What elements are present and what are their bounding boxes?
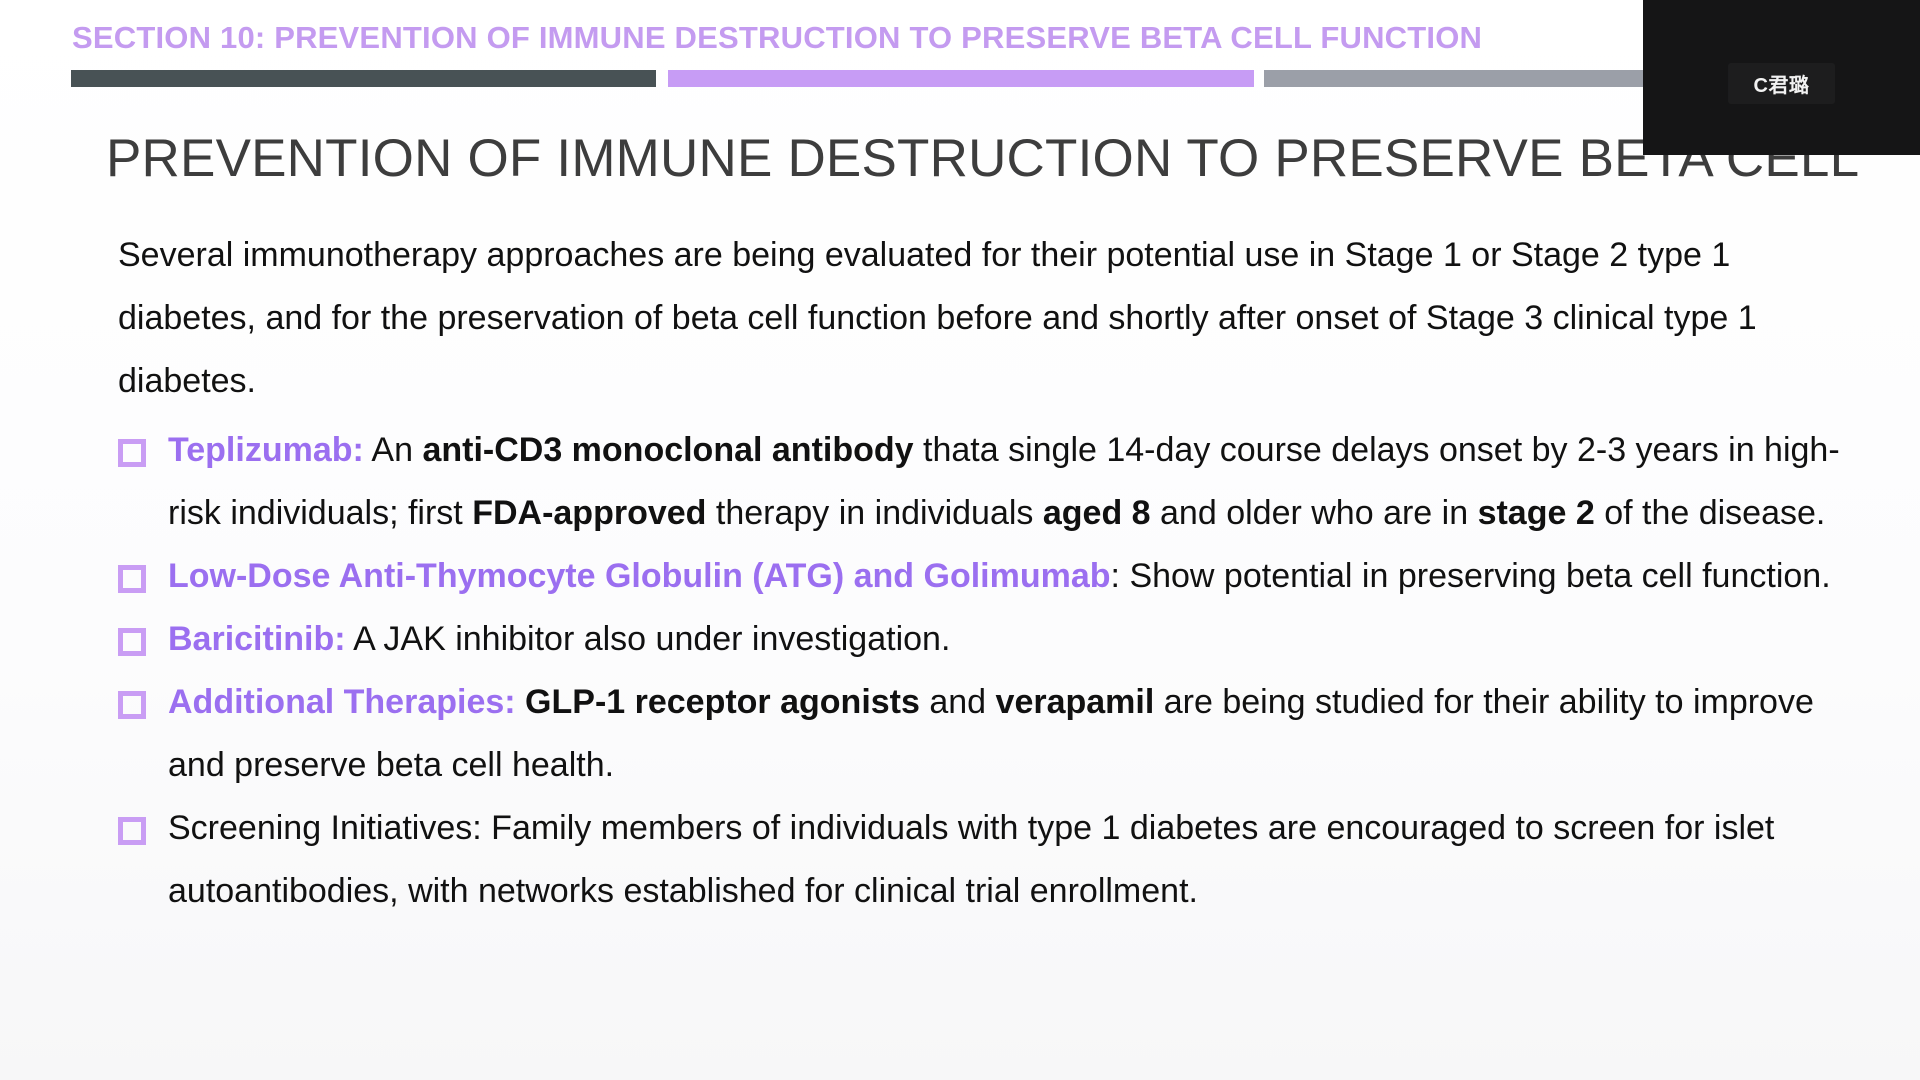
section-header: SECTION 10: PREVENTION OF IMMUNE DESTRUC… [0, 0, 1920, 108]
bullet-lead-label: Low-Dose Anti-Thymocyte Globulin (ATG) a… [168, 557, 1111, 595]
bullet-body-text: of the disease. [1595, 494, 1826, 532]
bullet-list: Teplizumab: An anti-CD3 monoclonal antib… [112, 419, 1842, 923]
bullet-body-text: and [920, 683, 996, 721]
bullet-item: Screening Initiatives: Family members of… [112, 797, 1868, 923]
bullet-emphasis-text: aged 8 [1043, 494, 1151, 532]
section-kicker-text: SECTION 10: PREVENTION OF IMMUNE DESTRUC… [72, 20, 1482, 56]
square-bullet-icon [118, 565, 146, 593]
page-title: PREVENTION OF IMMUNE DESTRUCTION TO PRES… [106, 128, 1846, 189]
bullet-body-text: therapy in individuals [706, 494, 1042, 532]
bullet-item: Teplizumab: An anti-CD3 monoclonal antib… [112, 419, 1868, 545]
bullet-body-text: : Show potential in preserving beta cell… [1111, 557, 1831, 595]
bullet-emphasis-text: GLP-1 receptor agonists [525, 683, 920, 721]
bullet-body-text: An [364, 431, 423, 469]
header-bar-dark [71, 70, 656, 87]
bullet-lead-label: Baricitinib: [168, 620, 346, 658]
header-bar-purple [668, 70, 1254, 87]
bullet-emphasis-text: anti-CD3 monoclonal antibody [422, 431, 913, 469]
bullet-item: Baricitinib: A JAK inhibitor also under … [112, 608, 1868, 671]
bullet-lead-label: Teplizumab: [168, 431, 364, 469]
square-bullet-icon [118, 439, 146, 467]
slide-canvas: SECTION 10: PREVENTION OF IMMUNE DESTRUC… [0, 0, 1920, 1080]
bullet-lead-label: Screening Initiatives: [168, 809, 482, 847]
bullet-body-text [516, 683, 525, 721]
bullet-emphasis-text: stage 2 [1478, 494, 1595, 532]
bullet-item: Additional Therapies: GLP-1 receptor ago… [112, 671, 1868, 797]
participant-name-label: C君璐 [1728, 63, 1836, 104]
intro-paragraph: Several immunotherapy approaches are bei… [118, 224, 1798, 413]
bullet-body-text: A JAK inhibitor also under investigation… [346, 620, 951, 658]
bullet-body-text: and older who are in [1151, 494, 1478, 532]
bullet-emphasis-text: verapamil [996, 683, 1155, 721]
bullet-emphasis-text: FDA-approved [472, 494, 706, 532]
square-bullet-icon [118, 628, 146, 656]
video-participant-tile[interactable]: C君璐 [1643, 0, 1920, 155]
slide-body: Several immunotherapy approaches are bei… [112, 224, 1842, 923]
bullet-item: Low-Dose Anti-Thymocyte Globulin (ATG) a… [112, 545, 1868, 608]
square-bullet-icon [118, 691, 146, 719]
bullet-lead-label: Additional Therapies: [168, 683, 516, 721]
square-bullet-icon [118, 817, 146, 845]
header-bar-gray [1264, 70, 1654, 87]
